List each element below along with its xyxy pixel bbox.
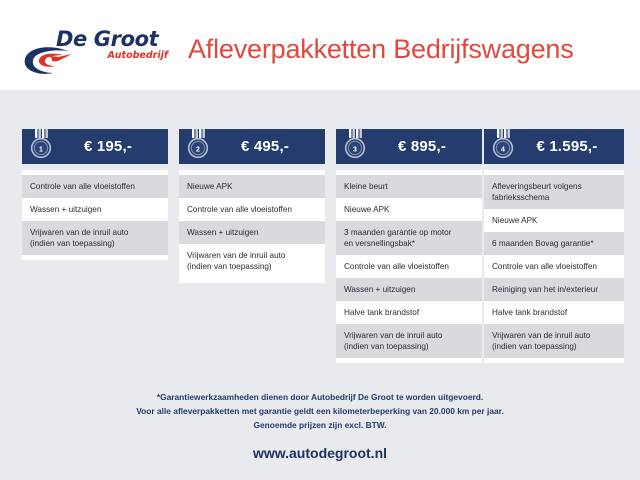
advert-page: De Groot Autobedrijf Afleverpakketten Be… — [0, 0, 640, 480]
footnote-line: Voor alle afleverpakketten met garantie … — [0, 404, 640, 418]
package-item: Wassen + uitzuigen — [22, 198, 168, 221]
footer: *Garantiewerkzaamheden dienen door Autob… — [0, 390, 640, 461]
brand-subtitle: Autobedrijf — [56, 50, 168, 62]
package-column[interactable]: 1€ 195,-Controle van alle vloeistoffenWa… — [22, 129, 168, 260]
package-price-header: 3€ 895,- — [336, 129, 482, 164]
package-column[interactable]: 4€ 1.595,-Afleveringsbeurt volgensfabrie… — [484, 129, 624, 363]
package-item: Kleine beurt — [336, 175, 482, 198]
footnote-line: Genoemde prijzen zijn excl. BTW. — [0, 418, 640, 432]
package-item-list: Controle van alle vloeistoffenWassen + u… — [22, 170, 168, 260]
website-url[interactable]: www.autodegroot.nl — [0, 445, 640, 461]
svg-text:3: 3 — [353, 146, 357, 153]
package-column[interactable]: 2€ 495,-Nieuwe APKControle van alle vloe… — [179, 129, 325, 283]
medal-icon: 3 — [342, 128, 368, 162]
package-item: Nieuwe APK — [336, 198, 482, 221]
package-item: Controle van alle vloeistoffen — [22, 175, 168, 198]
package-item-list: Kleine beurtNieuwe APK3 maanden garantie… — [336, 170, 482, 363]
package-item: 6 maanden Bovag garantie* — [484, 232, 624, 255]
brand-name: De Groot — [56, 28, 176, 50]
package-item: Afleveringsbeurt volgensfabrieksschema — [484, 175, 624, 209]
package-item: Reiniging van het in/exterieur — [484, 278, 624, 301]
package-price: € 895,- — [368, 138, 482, 155]
brand-logo-text: De Groot Autobedrijf — [56, 28, 176, 62]
package-item: Wassen + uitzuigen — [179, 221, 325, 244]
package-price-header: 2€ 495,- — [179, 129, 325, 164]
package-item: Controle van alle vloeistoffen — [179, 198, 325, 221]
package-item: 3 maanden garantie op motoren versnellin… — [336, 221, 482, 255]
package-item: Halve tank brandstof — [484, 301, 624, 324]
footnote-line: *Garantiewerkzaamheden dienen door Autob… — [0, 390, 640, 404]
page-title: Afleverpakketten Bedrijfswagens — [188, 34, 574, 65]
package-price-header: 1€ 195,- — [22, 129, 168, 164]
package-price: € 1.595,- — [516, 138, 624, 155]
page-header: De Groot Autobedrijf Afleverpakketten Be… — [0, 0, 640, 90]
package-item: Vrijwaren van de inruil auto(indien van … — [22, 221, 168, 255]
medal-icon: 1 — [28, 128, 54, 162]
medal-icon: 4 — [490, 128, 516, 162]
package-item: Controle van alle vloeistoffen — [336, 255, 482, 278]
content-panel: 1€ 195,-Controle van alle vloeistoffenWa… — [0, 90, 640, 480]
package-columns: 1€ 195,-Controle van alle vloeistoffenWa… — [0, 90, 640, 380]
brand-logo[interactable]: De Groot Autobedrijf — [22, 28, 172, 76]
package-item: Controle van alle vloeistoffen — [484, 255, 624, 278]
svg-text:4: 4 — [501, 146, 505, 153]
package-item-list: Nieuwe APKControle van alle vloeistoffen… — [179, 170, 325, 283]
package-column[interactable]: 3€ 895,-Kleine beurtNieuwe APK3 maanden … — [336, 129, 482, 363]
package-item-list: Afleveringsbeurt volgensfabrieksschemaNi… — [484, 170, 624, 363]
medal-icon: 2 — [185, 128, 211, 162]
package-price-header: 4€ 1.595,- — [484, 129, 624, 164]
package-item: Vrijwaren van de inruil auto(indien van … — [484, 324, 624, 358]
package-item: Nieuwe APK — [484, 209, 624, 232]
package-item: Vrijwaren van de inruil auto(indien van … — [179, 244, 325, 278]
svg-text:1: 1 — [39, 146, 43, 153]
package-item: Vrijwaren van de inruil auto(indien van … — [336, 324, 482, 358]
package-price: € 195,- — [54, 138, 168, 155]
package-item: Wassen + uitzuigen — [336, 278, 482, 301]
package-item: Halve tank brandstof — [336, 301, 482, 324]
svg-text:2: 2 — [196, 146, 200, 153]
package-item: Nieuwe APK — [179, 175, 325, 198]
package-price: € 495,- — [211, 138, 325, 155]
